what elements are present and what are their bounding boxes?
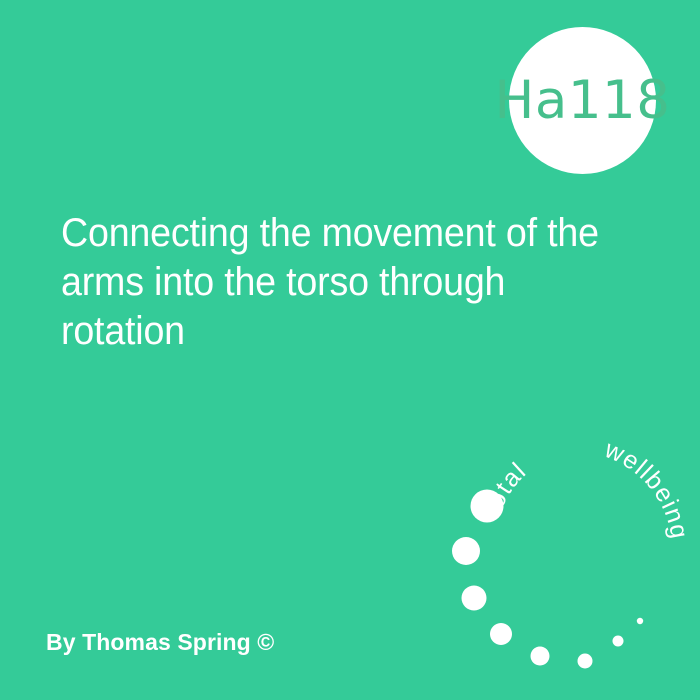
logo-dot xyxy=(613,636,624,647)
slide-canvas: Ha118 Connecting the movement of the arm… xyxy=(0,0,700,700)
logo-dot xyxy=(637,618,643,624)
author-credit: By Thomas Spring © xyxy=(46,629,274,656)
logo-word-total-path: total xyxy=(478,457,532,519)
logo-dot xyxy=(452,537,480,565)
logo-dot xyxy=(578,654,593,669)
page-title: Connecting the movement of the arms into… xyxy=(61,209,625,356)
logo-word-total: total xyxy=(478,457,532,519)
logo-dot xyxy=(531,647,550,666)
total-wellbeing-logo: total wellbeing xyxy=(440,430,690,690)
logo-word-wellbeing: wellbeing xyxy=(600,435,694,542)
logo-word-wellbeing-path: wellbeing xyxy=(600,435,694,542)
logo-dot-ring xyxy=(452,490,643,669)
logo-dot xyxy=(490,623,512,645)
logo-dot xyxy=(462,586,487,611)
badge-code-label: Ha118 xyxy=(509,27,656,174)
